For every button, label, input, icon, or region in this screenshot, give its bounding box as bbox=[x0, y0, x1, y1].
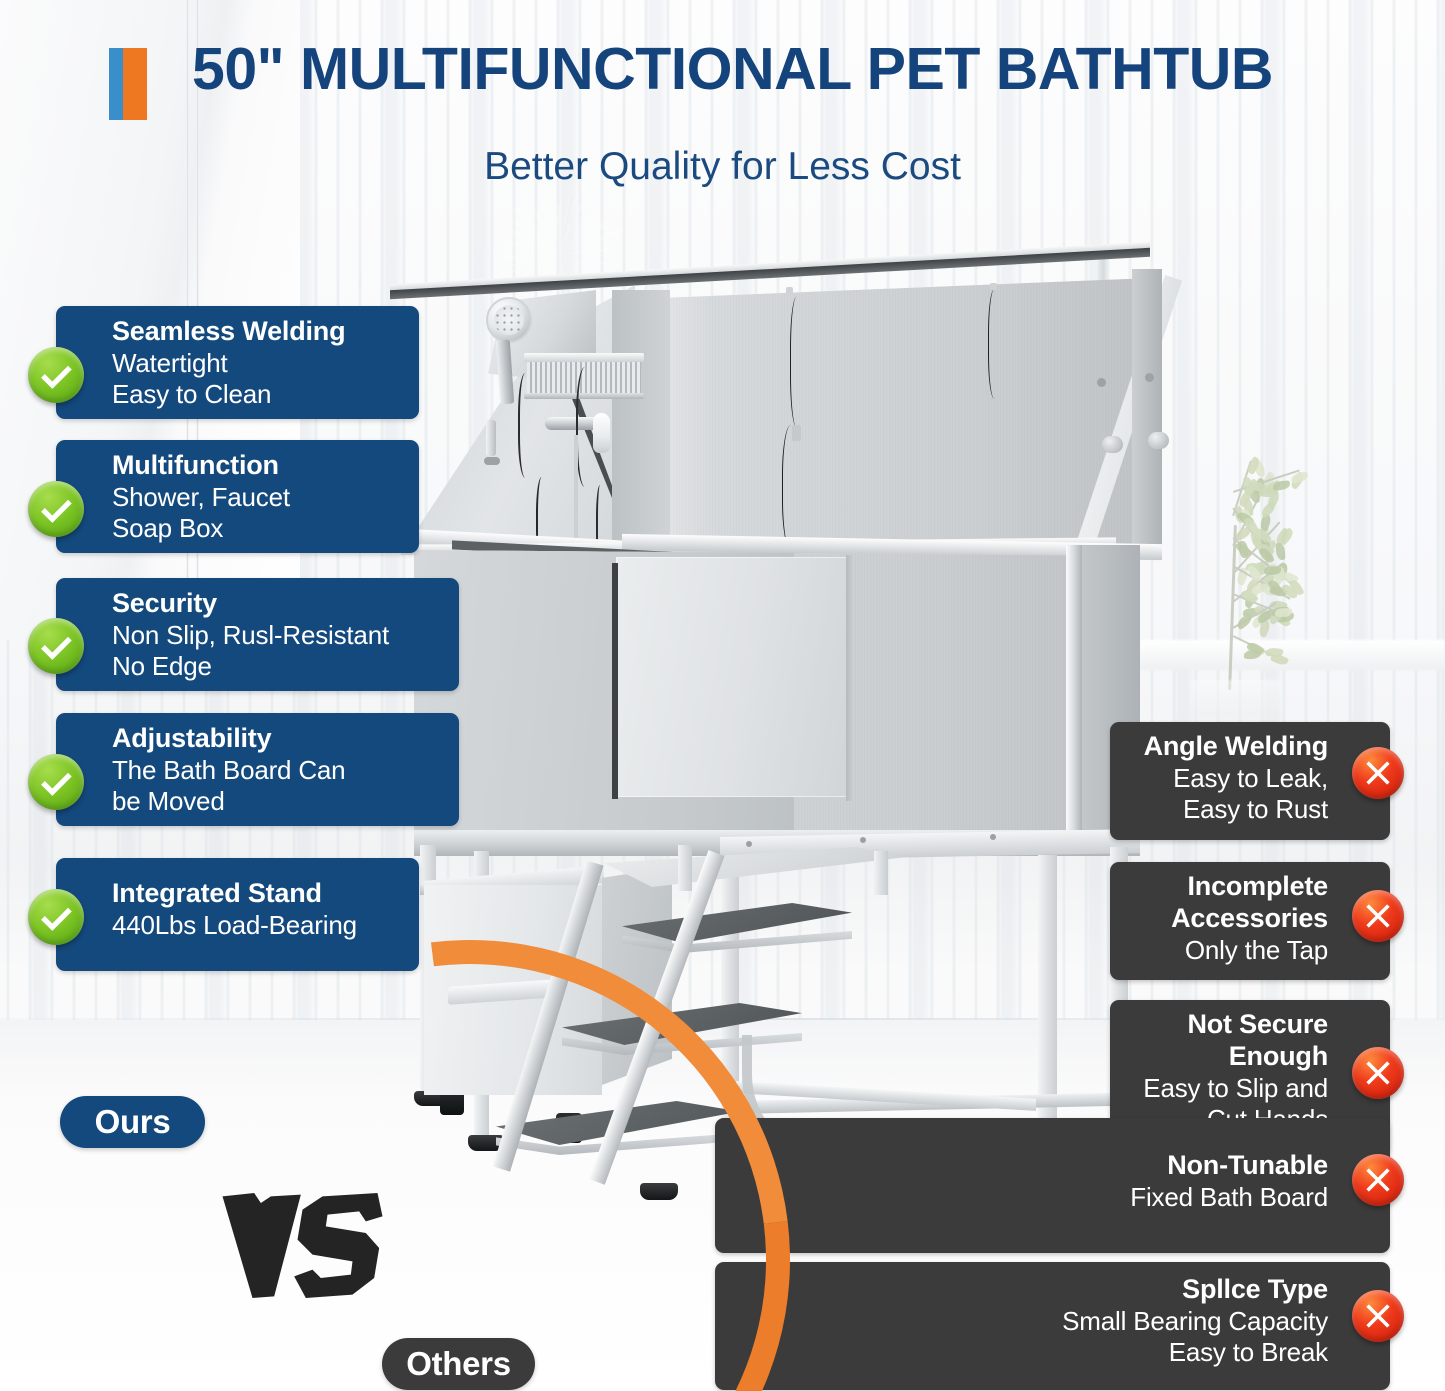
feature-line: Non Slip, Rusl-Resistant bbox=[112, 620, 445, 651]
feature-line: Easy to Break bbox=[731, 1337, 1328, 1368]
feature-title: Multifunction bbox=[112, 450, 405, 482]
check-circle-icon bbox=[28, 481, 84, 537]
feature-line: Watertight bbox=[112, 348, 405, 379]
feature-title: Integrated Stand bbox=[112, 878, 405, 910]
feature-line: Shower, Faucet bbox=[112, 482, 405, 513]
others-label-pill: Others bbox=[382, 1338, 535, 1390]
vs-badge bbox=[215, 1178, 390, 1303]
others-feature-angle-welding[interactable]: Angle Welding Easy to Leak, Easy to Rust bbox=[1110, 722, 1390, 840]
feature-line: Fixed Bath Board bbox=[731, 1182, 1328, 1213]
feature-line: Easy to Slip and bbox=[1126, 1073, 1328, 1104]
infographic-canvas: 50" MULTIFUNCTIONAL PET BATHTUB Better Q… bbox=[0, 0, 1445, 1391]
decor-plant-pot bbox=[1190, 680, 1282, 720]
ours-feature-seamless-welding[interactable]: Seamless Welding Watertight Easy to Clea… bbox=[56, 306, 419, 419]
others-feature-incomplete-accessories[interactable]: Incomplete Accessories Only the Tap bbox=[1110, 862, 1390, 980]
check-circle-icon bbox=[28, 618, 84, 674]
feature-title: Seamless Welding bbox=[112, 316, 405, 348]
feature-line: Small Bearing Capacity bbox=[731, 1306, 1328, 1337]
page-subtitle: Better Quality for Less Cost bbox=[0, 145, 1445, 189]
cross-circle-icon bbox=[1352, 890, 1404, 942]
feature-line: Easy to Rust bbox=[1126, 794, 1328, 825]
feature-line: 440Lbs Load-Bearing bbox=[112, 910, 405, 941]
check-circle-icon bbox=[28, 347, 84, 403]
feature-line: be Moved bbox=[112, 786, 445, 817]
ours-feature-adjustability[interactable]: Adjustability The Bath Board Can be Move… bbox=[56, 713, 459, 826]
feature-title: Non-Tunable bbox=[731, 1150, 1328, 1182]
feature-line: The Bath Board Can bbox=[112, 755, 445, 786]
feature-line: Only the Tap bbox=[1126, 935, 1328, 966]
check-circle-icon bbox=[28, 754, 84, 810]
header: 50" MULTIFUNCTIONAL PET BATHTUB bbox=[0, 40, 1445, 99]
feature-line: Easy to Leak, bbox=[1126, 763, 1328, 794]
feature-title: Spllce Type bbox=[731, 1274, 1328, 1306]
ours-label-pill: Ours bbox=[60, 1096, 205, 1148]
feature-title: Incomplete Accessories bbox=[1126, 871, 1328, 935]
feature-title: Not Secure Enough bbox=[1126, 1009, 1328, 1073]
feature-title: Security bbox=[112, 588, 445, 620]
cross-circle-icon bbox=[1352, 747, 1404, 799]
ours-feature-security[interactable]: Security Non Slip, Rusl-Resistant No Edg… bbox=[56, 578, 459, 691]
cross-circle-icon bbox=[1352, 1290, 1404, 1342]
feature-line: Easy to Clean bbox=[112, 379, 405, 410]
feature-line: Soap Box bbox=[112, 513, 405, 544]
shower-head-icon bbox=[486, 297, 532, 343]
ours-feature-integrated-stand[interactable]: Integrated Stand 440Lbs Load-Bearing bbox=[56, 858, 419, 971]
cross-circle-icon bbox=[1352, 1047, 1404, 1099]
cross-circle-icon bbox=[1352, 1154, 1404, 1206]
page-title: 50" MULTIFUNCTIONAL PET BATHTUB bbox=[0, 40, 1445, 99]
check-circle-icon bbox=[28, 889, 84, 945]
feature-line: No Edge bbox=[112, 651, 445, 682]
feature-title: Adjustability bbox=[112, 723, 445, 755]
others-feature-spllce-type[interactable]: Spllce Type Small Bearing Capacity Easy … bbox=[715, 1262, 1390, 1390]
feature-title: Angle Welding bbox=[1126, 731, 1328, 763]
ours-feature-multifunction[interactable]: Multifunction Shower, Faucet Soap Box bbox=[56, 440, 419, 553]
others-feature-non-tunable[interactable]: Non-Tunable Fixed Bath Board bbox=[715, 1118, 1390, 1253]
